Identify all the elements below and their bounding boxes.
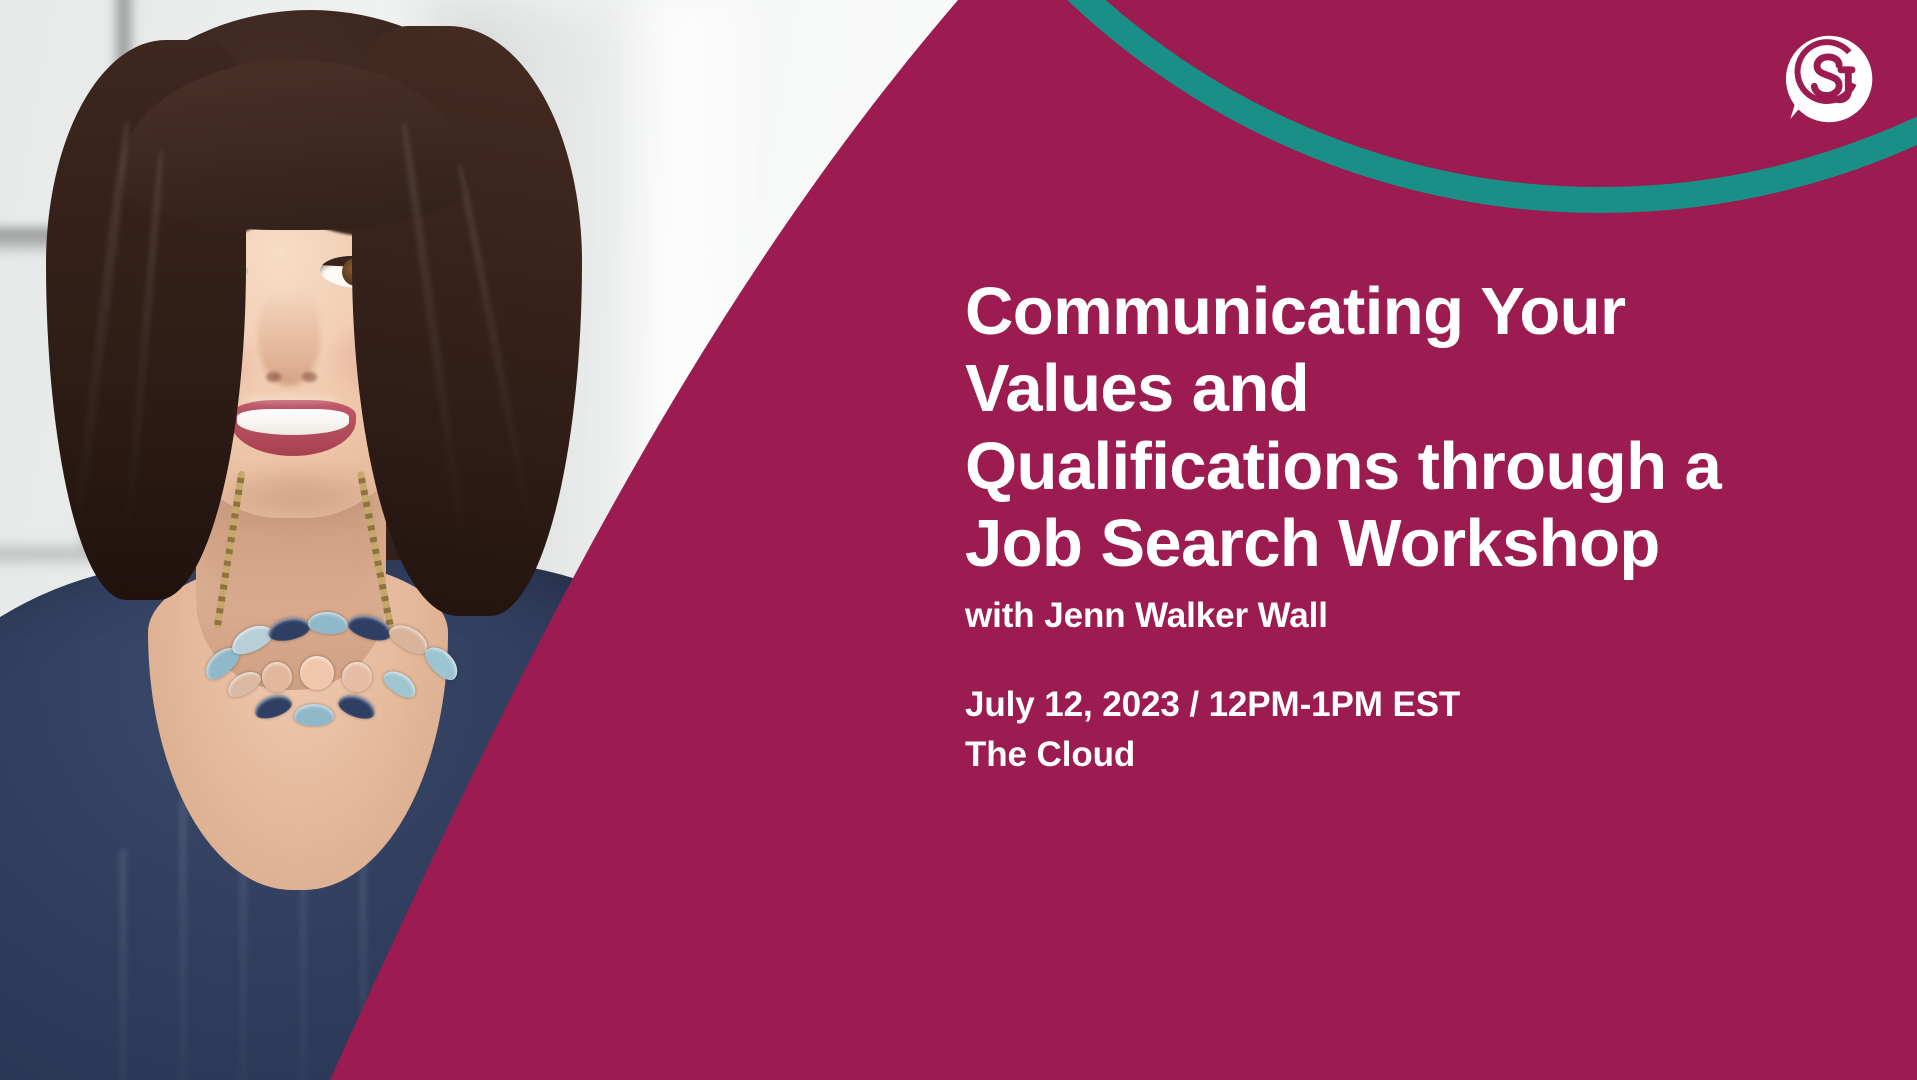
speaker-name: with Jenn Walker Wall xyxy=(965,596,1328,636)
event-text-block: Communicating Your Values and Qualificat… xyxy=(965,0,1917,1080)
promo-graphic: Communicating Your Values and Qualificat… xyxy=(0,0,1917,1080)
event-details: July 12, 2023 / 12PM-1PM EST The Cloud xyxy=(965,680,1460,779)
title-line-4: Job Search Workshop xyxy=(965,505,1917,582)
event-title: Communicating Your Values and Qualificat… xyxy=(965,273,1917,583)
title-line-2: Values and xyxy=(965,350,1917,427)
sj-logo[interactable] xyxy=(1783,33,1875,125)
event-datetime: July 12, 2023 / 12PM-1PM EST xyxy=(965,680,1460,730)
title-line-1: Communicating Your xyxy=(965,273,1917,350)
title-line-3: Qualifications through a xyxy=(965,428,1917,505)
event-location: The Cloud xyxy=(965,730,1460,780)
